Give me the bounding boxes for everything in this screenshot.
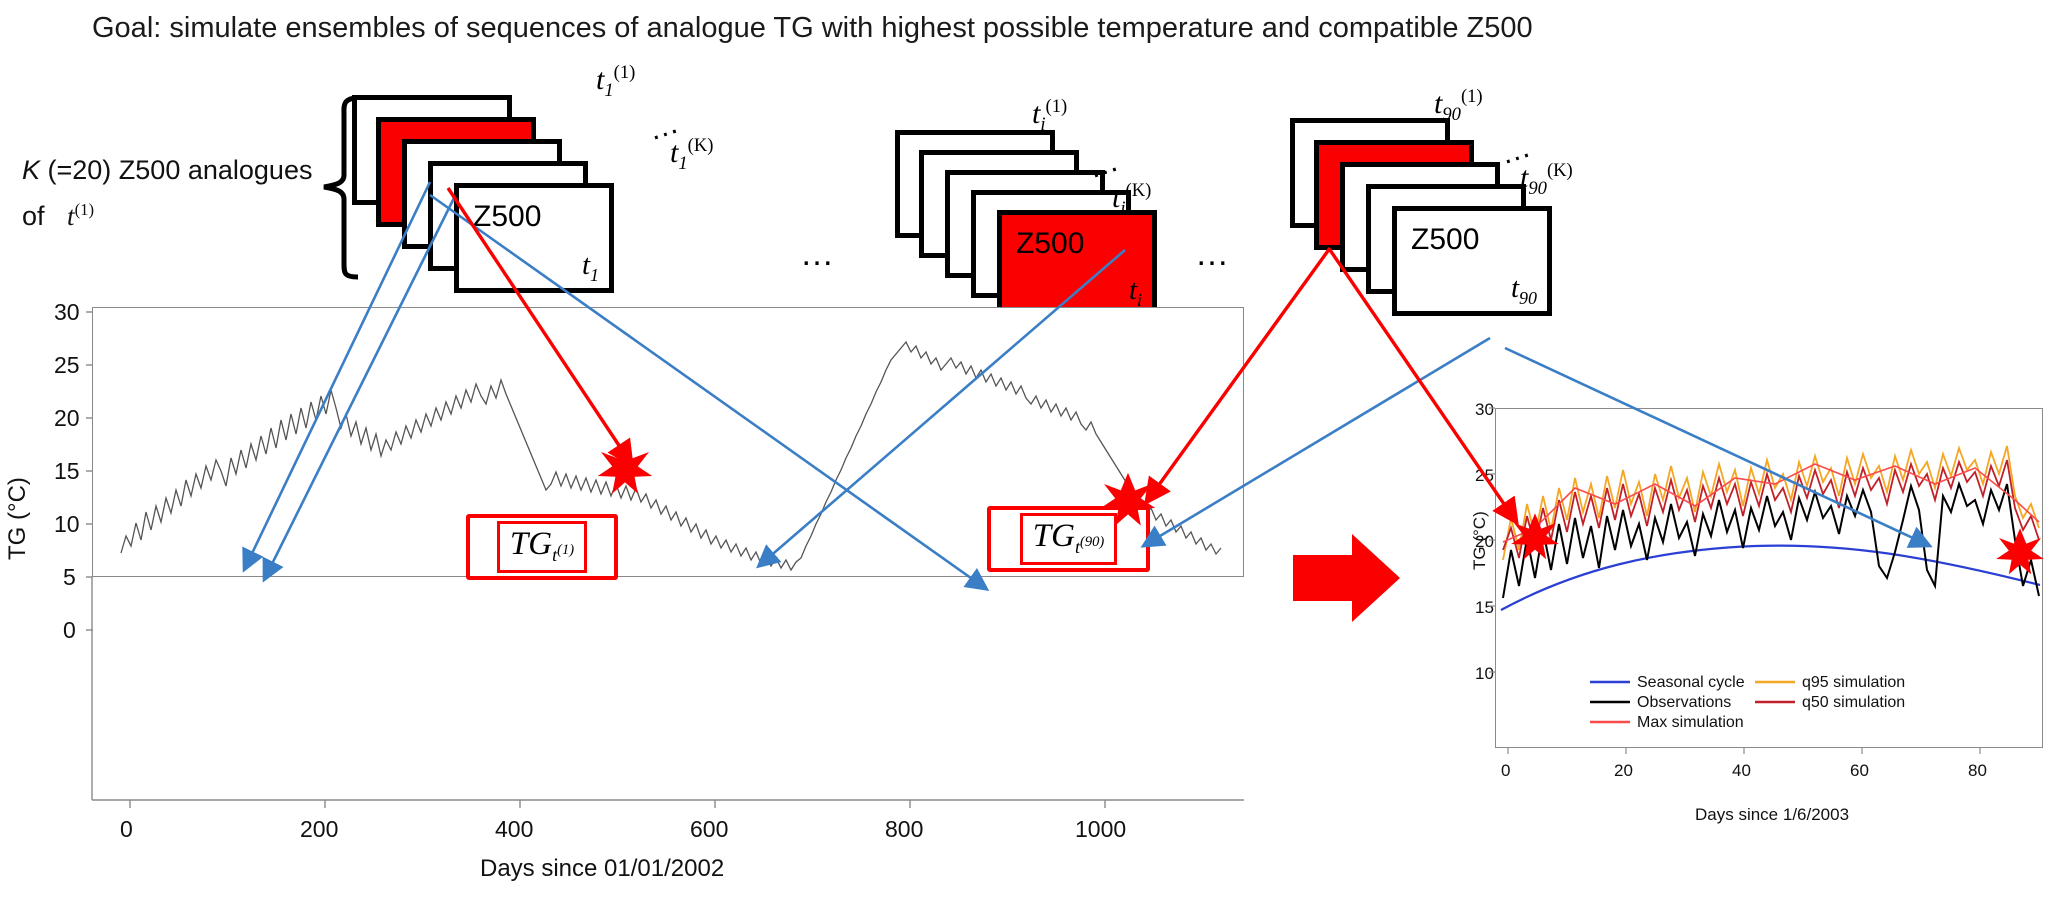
inset-legend-seasonal-cycle: Seasonal cycle xyxy=(1637,674,1745,692)
stack-t90-card-time-label: t90 xyxy=(1511,272,1537,309)
analogue-of-text: of xyxy=(22,201,45,231)
stack-t1-top-label: t1(1) xyxy=(596,62,635,102)
stack-t90-z500-label: Z500 xyxy=(1411,223,1479,257)
callout-tg-t90[interactable]: TGt(90) xyxy=(987,506,1150,572)
stack-ti-card-time-label: ti xyxy=(1129,274,1142,311)
inset-xtick-40: 40 xyxy=(1732,761,1751,781)
main-plot-xtick-200: 200 xyxy=(300,816,338,843)
big-red-arrow-icon xyxy=(1293,534,1400,622)
analogue-k-text: (=20) Z500 analogues xyxy=(40,155,312,185)
main-plot-ytick-5: 5 xyxy=(63,564,76,591)
stack-ti-z500-label: Z500 xyxy=(1016,227,1084,261)
main-plot-xtick-0: 0 xyxy=(120,816,133,843)
separator-ellipsis-right: … xyxy=(1195,235,1231,274)
stack-ti-card-5-z500-selected[interactable]: Z500 ti xyxy=(997,210,1157,318)
main-plot-xtick-1000: 1000 xyxy=(1075,816,1126,843)
stack-ti-top-label: ti(1) xyxy=(1032,96,1067,136)
stack-t1-z500-label: Z500 xyxy=(473,200,541,234)
main-plot-xtick-600: 600 xyxy=(690,816,728,843)
inset-legend-q50-simulation: q50 simulation xyxy=(1802,694,1905,712)
main-plot-xtick-400: 400 xyxy=(495,816,533,843)
page-title: Goal: simulate ensembles of sequences of… xyxy=(92,8,1942,48)
inset-xtick-60: 60 xyxy=(1850,761,1869,781)
analogue-t-symbol: t xyxy=(67,201,75,231)
analogue-k-symbol: K xyxy=(22,155,40,185)
inset-xtick-80: 80 xyxy=(1968,761,1987,781)
callout-tg-t90-label: TGt(90) xyxy=(1020,513,1117,566)
inset-ytick-10: 10 xyxy=(1475,664,1494,684)
inset-legend-max-simulation: Max simulation xyxy=(1637,714,1744,732)
stack-t1-card-5-z500[interactable]: Z500 t1 xyxy=(454,183,614,293)
inset-legend-q95-simulation: q95 simulation xyxy=(1802,674,1905,692)
stack-t1: Z500 t1 xyxy=(352,95,642,270)
stack-t90-bottom-label: t90(K) xyxy=(1520,160,1573,200)
main-plot-ytick-30: 30 xyxy=(54,299,80,326)
callout-tg-t1-label: TGt(1) xyxy=(497,521,587,574)
inset-xtick-0: 0 xyxy=(1501,761,1510,781)
main-plot-xtick-800: 800 xyxy=(885,816,923,843)
inset-ytick-20: 20 xyxy=(1475,532,1494,552)
analogue-t-superscript: (1) xyxy=(75,200,95,219)
main-plot-ytick-20: 20 xyxy=(54,405,80,432)
stack-t1-card-time-label: t1 xyxy=(582,249,599,286)
separator-ellipsis-left: … xyxy=(800,235,836,274)
callout-tg-t1[interactable]: TGt(1) xyxy=(466,514,618,580)
main-plot-ytick-25: 25 xyxy=(54,352,80,379)
stack-t90: Z500 t90 xyxy=(1290,118,1580,293)
inset-ytick-15: 15 xyxy=(1475,598,1494,618)
inset-legend-observations: Observations xyxy=(1637,694,1731,712)
inset-xtick-20: 20 xyxy=(1614,761,1633,781)
main-plot-ytick-15: 15 xyxy=(54,458,80,485)
main-plot-ytick-0: 0 xyxy=(63,617,76,644)
inset-plot-x-axis-title: Days since 1/6/2003 xyxy=(1695,805,1849,825)
main-plot-x-axis-title: Days since 01/01/2002 xyxy=(480,855,724,883)
inset-legend xyxy=(1455,672,2055,742)
analogue-count-label: K (=20) Z500 analogues of t(1) xyxy=(22,150,352,236)
stack-ti-bottom-label: ti(K) xyxy=(1112,180,1151,220)
stack-t1-bottom-label: t1(K) xyxy=(670,135,713,175)
stack-t90-top-label: t90(1) xyxy=(1434,86,1483,126)
inset-ytick-25: 25 xyxy=(1475,466,1494,486)
inset-simulation-plot[interactable]: Seasonal cycle Observations Max simulati… xyxy=(1455,400,2055,770)
main-plot-ytick-10: 10 xyxy=(54,511,80,538)
inset-ytick-30: 30 xyxy=(1475,400,1494,420)
stack-t90-card-5-z500[interactable]: Z500 t90 xyxy=(1392,206,1552,316)
main-plot-y-axis-title: TG (°C) xyxy=(4,477,32,560)
